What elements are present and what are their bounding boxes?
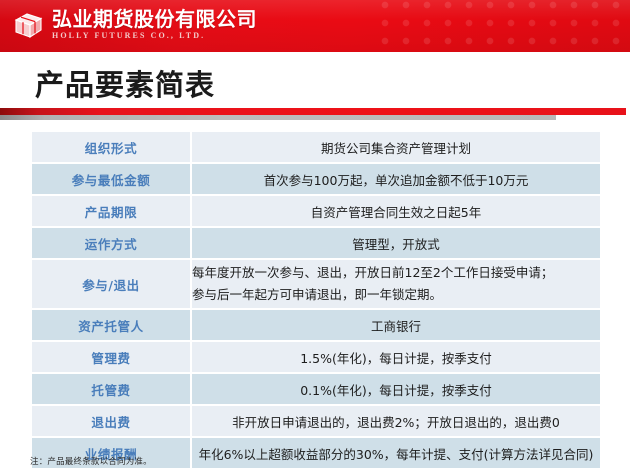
row-value: 首次参与100万起，单次追加金额不低于10万元	[192, 164, 600, 196]
table-row: 托管费 0.1%(年化)，每日计提，按季支付	[32, 374, 600, 406]
divider-bar-red	[0, 108, 626, 115]
row-value: 工商银行	[192, 310, 600, 342]
table-row: 产品期限 自资产管理合同生效之日起5年	[32, 196, 600, 228]
table-row: 退出费 非开放日申请退出的，退出费2%；开放日退出的，退出费0	[32, 406, 600, 438]
company-name-cn: 弘业期货股份有限公司	[52, 9, 257, 29]
header-pattern-decoration	[380, 0, 630, 52]
table-row: 资产托管人 工商银行	[32, 310, 600, 342]
cube-box-logo-icon	[13, 10, 44, 40]
row-label: 组织形式	[32, 132, 192, 164]
table-row: 参与/退出 每年度开放一次参与、退出，开放日前12至2个工作日接受申请； 参与后…	[32, 260, 600, 310]
row-value: 每年度开放一次参与、退出，开放日前12至2个工作日接受申请； 参与后一年起方可申…	[192, 260, 600, 310]
row-label: 资产托管人	[32, 310, 192, 342]
row-value-line: 每年度开放一次参与、退出，开放日前12至2个工作日接受申请；	[192, 262, 600, 284]
row-label: 产品期限	[32, 196, 192, 228]
footnote-text: 注：产品最终条款以合同为准。	[30, 455, 152, 467]
row-value: 期货公司集合资产管理计划	[192, 132, 600, 164]
company-logo: 弘业期货股份有限公司 HOLLY FUTURES CO., LTD.	[13, 9, 257, 40]
row-label: 运作方式	[32, 228, 192, 260]
table-row: 运作方式 管理型，开放式	[32, 228, 600, 260]
product-spec-table: 组织形式 期货公司集合资产管理计划 参与最低金额 首次参与100万起，单次追加金…	[32, 132, 600, 470]
row-value-line: 参与后一年起方可申请退出，即一年锁定期。	[192, 284, 600, 306]
divider-bar-gray	[0, 115, 556, 120]
row-label: 托管费	[32, 374, 192, 406]
row-value: 非开放日申请退出的，退出费2%；开放日退出的，退出费0	[192, 406, 600, 438]
page-title: 产品要素简表	[35, 62, 215, 104]
row-label: 参与/退出	[32, 260, 192, 310]
row-value: 自资产管理合同生效之日起5年	[192, 196, 600, 228]
company-name-en: HOLLY FUTURES CO., LTD.	[52, 32, 257, 40]
row-label: 退出费	[32, 406, 192, 438]
row-value: 1.5%(年化)，每日计提，按季支付	[192, 342, 600, 374]
table-row: 组织形式 期货公司集合资产管理计划	[32, 132, 600, 164]
row-value: 年化6%以上超额收益部分的30%，每年计提、支付(计算方法详见合同)	[192, 438, 600, 470]
row-label: 参与最低金额	[32, 164, 192, 196]
table-row: 管理费 1.5%(年化)，每日计提，按季支付	[32, 342, 600, 374]
row-label: 管理费	[32, 342, 192, 374]
table-row: 参与最低金额 首次参与100万起，单次追加金额不低于10万元	[32, 164, 600, 196]
row-value: 管理型，开放式	[192, 228, 600, 260]
row-value: 0.1%(年化)，每日计提，按季支付	[192, 374, 600, 406]
